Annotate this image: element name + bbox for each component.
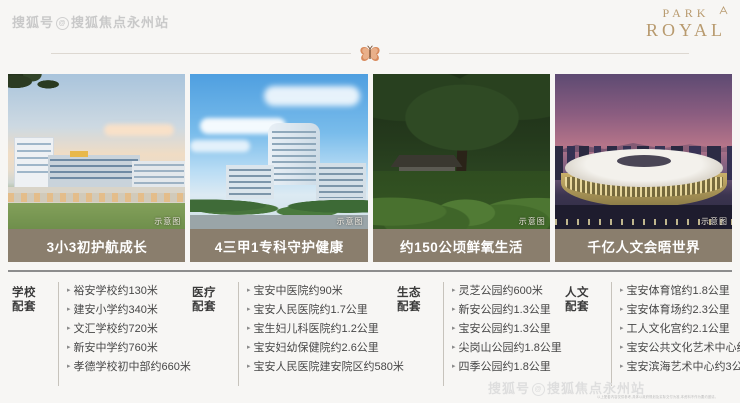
photo-caption-school: 3小3初护航成长 (8, 229, 185, 262)
butterfly-icon (357, 43, 383, 63)
column-title-line2: 配套 (565, 300, 605, 314)
watermark-top-suffix: 搜狐焦点永州站 (71, 15, 169, 30)
amenities-list-medical: ▸宝安中医院约90米 ▸宝安人民医院约1.7公里 ▸宝生妇儿科医院约1.2公里 … (247, 280, 404, 375)
list-item: ▸宝安中医院约90米 (247, 283, 404, 299)
bullet-icon: ▸ (620, 359, 624, 375)
list-item: ▸孝德学校初中部约660米 (67, 359, 191, 375)
list-item: ▸宝安体育馆约1.8公里 (620, 283, 740, 299)
list-item-label: 裕安学校约130米 (74, 283, 158, 299)
cloud-shape (190, 140, 250, 152)
amenities-list-culture: ▸宝安体育馆约1.8公里 ▸宝安体育场约2.3公里 ▸工人文化宫约2.1公里 ▸… (620, 280, 740, 375)
bullet-icon: ▸ (247, 283, 251, 299)
list-item-label: 宝安公园约1.3公里 (459, 321, 551, 337)
bullet-icon: ▸ (67, 340, 71, 356)
amenities-column-culture: 人文 配套 ▸宝安体育馆约1.8公里 ▸宝安体育场约2.3公里 ▸工人文化宫约2… (561, 280, 732, 388)
amenities-column-medical: 医疗 配套 ▸宝安中医院约90米 ▸宝安人民医院约1.7公里 ▸宝生妇儿科医院约… (188, 280, 393, 388)
photo-card-medical[interactable]: 示意图 4三甲1专科守护健康 (190, 74, 367, 262)
amenities-list-ecology: ▸灵芝公园约600米 ▸新安公园约1.3公里 ▸宝安公园约1.3公里 ▸尖岗山公… (452, 280, 562, 375)
photo-school-campus (8, 74, 185, 229)
photo-gallery: 示意图 3小3初护航成长 示意图 4三甲1专科守护健康 (8, 74, 732, 262)
bullet-icon: ▸ (247, 302, 251, 318)
tree-canopy (373, 74, 550, 156)
column-separator (238, 282, 239, 386)
list-item-label: 尖岗山公园约1.8公里 (459, 340, 562, 356)
cloud-shape (264, 86, 360, 106)
watermark-top-prefix: 搜狐号 (12, 15, 54, 30)
at-icon: @ (56, 17, 69, 30)
bullet-icon: ▸ (67, 359, 71, 375)
list-item-label: 宝安妇幼保健院约2.6公里 (254, 340, 379, 356)
list-item-label: 宝生妇儿科医院约1.2公里 (254, 321, 379, 337)
poster-page: 搜狐号@搜狐焦点永州站 PARK ROYAL (0, 0, 740, 403)
legal-disclaimer: 以上配套内容仅供参考,具体以政府规划及实际交付为准,本资料不作为要约邀请。 (418, 394, 718, 399)
bullet-icon: ▸ (247, 359, 251, 375)
cloud-shape (104, 124, 174, 136)
bullet-icon: ▸ (67, 321, 71, 337)
list-item-label: 工人文化宫约2.1公里 (627, 321, 730, 337)
list-item-label: 宝安中医院约90米 (254, 283, 343, 299)
section-divider (0, 42, 740, 64)
brand-monogram-icon (719, 6, 728, 17)
photo-caption-medical: 4三甲1专科守护健康 (190, 229, 367, 262)
list-item-label: 宝安滨海艺术中心约3公里 (627, 359, 740, 375)
brand-logo: PARK ROYAL (646, 6, 726, 40)
list-item-label: 宝安公共文化艺术中心约2.1公里 (627, 340, 740, 356)
list-item: ▸新安中学约760米 (67, 340, 191, 356)
list-item: ▸裕安学校约130米 (67, 283, 191, 299)
column-title-medical: 医疗 配套 (188, 280, 232, 314)
photo-note-medical: 示意图 (337, 216, 364, 227)
photo-note-culture: 示意图 (701, 216, 728, 227)
column-title-line2: 配套 (12, 300, 52, 314)
bullet-icon: ▸ (452, 359, 456, 375)
photo-card-culture[interactable]: 示意图 千亿人文会晤世界 (555, 74, 732, 262)
photo-hospital-building (190, 74, 367, 229)
list-item-label: 灵芝公园约600米 (459, 283, 543, 299)
stadium-oculus (617, 155, 671, 167)
amenities-column-school: 学校 配套 ▸裕安学校约130米 ▸建安小学约340米 ▸文汇学校约720米 ▸… (8, 280, 188, 388)
brand-logo-line1: PARK (646, 6, 726, 20)
amenities-column-ecology: 生态 配套 ▸灵芝公园约600米 ▸新安公园约1.3公里 ▸宝安公园约1.3公里… (393, 280, 561, 388)
bullet-icon: ▸ (67, 302, 71, 318)
bullet-icon: ▸ (247, 321, 251, 337)
column-title-line1: 人文 (565, 286, 605, 300)
foliage-overlay (8, 74, 68, 102)
column-title-school: 学校 配套 (8, 280, 52, 314)
list-item-label: 宝安人民医院约1.7公里 (254, 302, 368, 318)
bullet-icon: ▸ (620, 283, 624, 299)
photo-card-ecology[interactable]: 示意图 约150公顷鲜氧生活 (373, 74, 550, 262)
accent-band (70, 151, 88, 157)
photo-stadium-night (555, 74, 732, 229)
bullet-icon: ▸ (452, 321, 456, 337)
list-item-label: 宝安体育场约2.3公里 (627, 302, 730, 318)
column-title-ecology: 生态 配套 (393, 280, 437, 314)
bullet-icon: ▸ (452, 340, 456, 356)
bullet-icon: ▸ (620, 302, 624, 318)
divider-rule-left (51, 53, 351, 54)
list-item-label: 宝安体育馆约1.8公里 (627, 283, 730, 299)
column-separator (443, 282, 444, 386)
bullet-icon: ▸ (452, 302, 456, 318)
list-item: ▸宝安滨海艺术中心约3公里 (620, 359, 740, 375)
column-title-line2: 配套 (192, 300, 232, 314)
list-item-label: 文汇学校约720米 (74, 321, 158, 337)
amenities-table: 学校 配套 ▸裕安学校约130米 ▸建安小学约340米 ▸文汇学校约720米 ▸… (8, 280, 732, 388)
list-item: ▸宝生妇儿科医院约1.2公里 (247, 321, 404, 337)
building-block-b (48, 155, 140, 191)
list-item-label: 宝安人民医院建安院区约580米 (254, 359, 404, 375)
list-item-label: 四季公园约1.8公里 (459, 359, 551, 375)
column-title-culture: 人文 配套 (561, 280, 605, 314)
list-item: ▸灵芝公园约600米 (452, 283, 562, 299)
list-item: ▸四季公园约1.8公里 (452, 359, 562, 375)
amenities-list-school: ▸裕安学校约130米 ▸建安小学约340米 ▸文汇学校约720米 ▸新安中学约7… (67, 280, 191, 375)
photo-note-school: 示意图 (154, 216, 181, 227)
top-bar: 搜狐号@搜狐焦点永州站 PARK ROYAL (0, 0, 740, 44)
bullet-icon: ▸ (620, 321, 624, 337)
bullet-icon: ▸ (620, 340, 624, 356)
column-title-line2: 配套 (397, 300, 437, 314)
bullet-icon: ▸ (247, 340, 251, 356)
column-separator (58, 282, 59, 386)
list-item-label: 新安中学约760米 (74, 340, 158, 356)
photo-caption-culture: 千亿人文会晤世界 (555, 229, 732, 262)
column-title-line1: 医疗 (192, 286, 232, 300)
photo-park-garden (373, 74, 550, 229)
list-item: ▸宝安人民医院约1.7公里 (247, 302, 404, 318)
list-item-label: 建安小学约340米 (74, 302, 158, 318)
tree-line (190, 189, 367, 217)
list-item: ▸宝安妇幼保健院约2.6公里 (247, 340, 404, 356)
bullet-icon: ▸ (67, 283, 71, 299)
column-title-line1: 生态 (397, 286, 437, 300)
list-item: ▸文汇学校约720米 (67, 321, 191, 337)
list-item: ▸工人文化宫约2.1公里 (620, 321, 740, 337)
photo-note-ecology: 示意图 (519, 216, 546, 227)
divider-rule-right (389, 53, 689, 54)
list-item: ▸宝安公共文化艺术中心约2.1公里 (620, 340, 740, 356)
photo-card-school[interactable]: 示意图 3小3初护航成长 (8, 74, 185, 262)
photo-caption-ecology: 约150公顷鲜氧生活 (373, 229, 550, 262)
list-item: ▸建安小学约340米 (67, 302, 191, 318)
hospital-tower (268, 123, 320, 185)
column-title-line1: 学校 (12, 286, 52, 300)
list-item-label: 新安公园约1.3公里 (459, 302, 551, 318)
list-item: ▸宝安体育场约2.3公里 (620, 302, 740, 318)
list-item-label: 孝德学校初中部约660米 (74, 359, 191, 375)
list-item: ▸新安公园约1.3公里 (452, 302, 562, 318)
bullet-icon: ▸ (452, 283, 456, 299)
brand-logo-line2: ROYAL (646, 20, 726, 40)
table-top-rule (8, 270, 732, 272)
column-separator (611, 282, 612, 386)
list-item: ▸宝安公园约1.3公里 (452, 321, 562, 337)
list-item: ▸宝安人民医院建安院区约580米 (247, 359, 404, 375)
list-item: ▸尖岗山公园约1.8公里 (452, 340, 562, 356)
sohu-watermark-top: 搜狐号@搜狐焦点永州站 (12, 12, 169, 31)
